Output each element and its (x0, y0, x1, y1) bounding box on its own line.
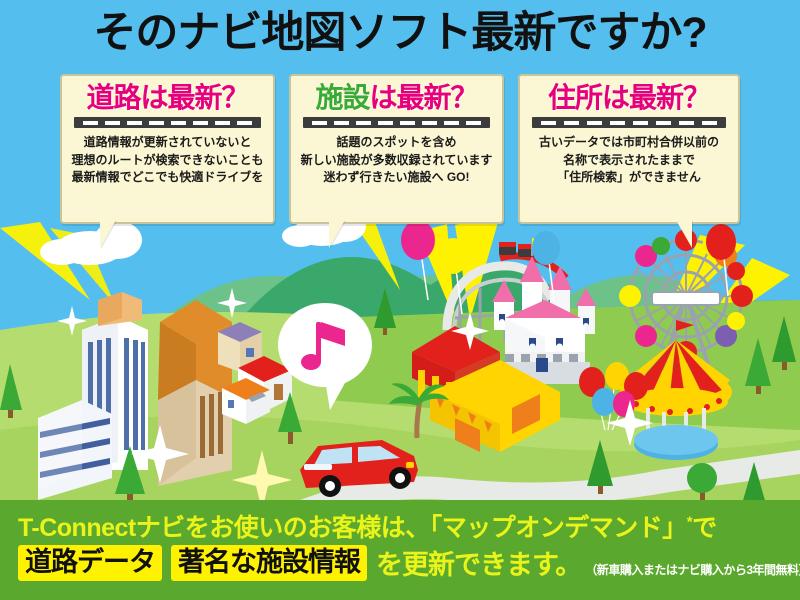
page-title: そのナビ地図ソフト最新ですか? (0, 10, 800, 57)
callout-address-title: 住所は最新？ (526, 83, 732, 112)
callout-address-line3: 「住所検索」ができません (526, 169, 732, 186)
callout-group: 道路は最新？ 道路情報が更新されていないと 理想のルートが検索できないことも 最… (0, 74, 800, 224)
chip-road-data: 道路データ (18, 545, 162, 581)
callout-facilities-line2: 新しい施設が多数収録されています (297, 152, 496, 169)
callout-address-tail (676, 220, 692, 248)
callout-roads-line1: 道路情報が更新されていないと (68, 134, 267, 151)
road-dashes-icon (303, 117, 490, 128)
callout-address: 住所は最新？ 古いデータでは市町村合併以前の 名称で表示されたままで 「住所検索… (518, 74, 740, 224)
banner-line-1-suffix: で (692, 514, 717, 542)
callout-roads-line2: 理想のルートが検索できないことも (68, 152, 267, 169)
bottom-banner: T-Connectナビをお使いのお客様は、「マップオンデマンド」*で 道路データ… (0, 500, 800, 600)
banner-update-text: を更新できます。 (376, 549, 581, 581)
callout-facilities-tail (329, 220, 345, 248)
callout-facilities-title-rest: は最新？ (370, 82, 478, 113)
callout-roads: 道路は最新？ 道路情報が更新されていないと 理想のルートが検索できないことも 最… (60, 74, 275, 224)
banner-line-2: 道路データ 著名な施設情報 を更新できます。 （新車購入またはナビ購入から3年間… (18, 545, 800, 581)
callout-address-title-rest: は最新？ (602, 82, 710, 113)
callout-roads-title-rest: は最新？ (141, 82, 249, 113)
callout-roads-title-main: 道路 (86, 82, 140, 113)
callout-facilities-title: 施設は最新？ (297, 83, 496, 112)
poster-root: そのナビ地図ソフト最新ですか? 道路は最新？ 道路情報が更新されていないと 理想… (0, 0, 800, 600)
road-dashes-icon (74, 117, 261, 128)
callout-facilities-title-main: 施設 (315, 82, 369, 113)
callout-address-line1: 古いデータでは市町村合併以前の (526, 134, 732, 151)
callout-address-title-main: 住所 (548, 82, 602, 113)
callout-facilities-line1: 話題のスポットを含め (297, 134, 496, 151)
callout-roads-title: 道路は最新？ (68, 83, 267, 112)
callout-roads-tail (100, 220, 116, 248)
banner-line-1-text: T-Connectナビをお使いのお客様は、「マップオンデマンド」 (18, 514, 687, 542)
chip-facility-info: 著名な施設情報 (171, 545, 367, 581)
callout-facilities: 施設は最新？ 話題のスポットを含め 新しい施設が多数収録されています 迷わず行き… (289, 74, 504, 224)
road-dashes-icon (532, 117, 726, 128)
banner-line-1: T-Connectナビをお使いのお客様は、「マップオンデマンド」*で (18, 508, 717, 544)
banner-footnote: （新車購入またはナビ購入から3年間無料） (585, 561, 800, 581)
callout-facilities-line3: 迷わず行きたい施設へ GO! (297, 169, 496, 186)
callout-address-line2: 名称で表示されたままで (526, 152, 732, 169)
callout-roads-line3: 最新情報でどこでも快適ドライブを (68, 169, 267, 186)
